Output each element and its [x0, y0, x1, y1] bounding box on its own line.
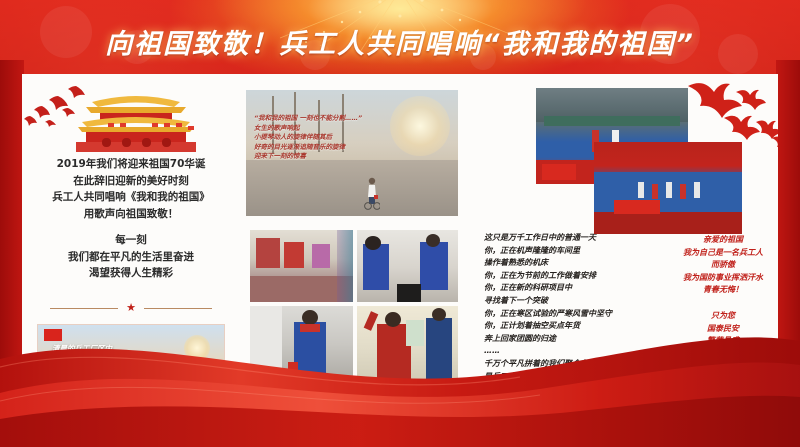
sun-flare	[390, 96, 450, 156]
grid-photo-4	[357, 306, 458, 386]
right-text-block-1: 亲爱的祖国 我为自己是一名兵工人 而骄傲 我为国防事业挥洒汗水 青春无悔！	[650, 234, 778, 297]
right-text-block-2: 只为您 国泰民安 繁荣昌盛	[650, 310, 778, 348]
left-column: 2019年我们将迎来祖国70华诞 在此辞旧迎新的美好时刻 兵工人共同唱响《我和我…	[22, 74, 240, 412]
poster-header: 向祖国致敬！兵工人共同唱响“我和我的祖国”	[0, 0, 800, 78]
china-flag-icon	[44, 329, 62, 341]
road-surface	[246, 160, 458, 216]
factory-building	[78, 381, 168, 409]
factory-morning-photo: 清晨的兵工厂区内 一场突如其来的快闪正在酝酿中 快闪队员纷纷开始行动	[37, 324, 225, 412]
red-doves-graphic-icon	[680, 76, 778, 160]
grid-photo-2	[357, 230, 458, 302]
second-paragraph: 每一刻 我们都在平凡的生活里奋进 渴望获得人生精彩	[28, 232, 234, 282]
star-icon: ★	[125, 302, 137, 314]
factory-photo-caption: 清晨的兵工厂区内 一场突如其来的快闪正在酝酿中 快闪队员纷纷开始行动	[52, 343, 212, 378]
grid-photo-3	[250, 306, 353, 386]
cyclist-photo: “我和我的祖国 一刻也不能分割……” 女生的歌声响起 小提琴动人的旋律伴随其后 …	[246, 90, 458, 216]
lead-paragraph: 2019年我们将迎来祖国70华诞 在此辞旧迎新的美好时刻 兵工人共同唱响《我和我…	[28, 156, 234, 222]
cyclist-photo-overlay-text: “我和我的祖国 一刻也不能分割……” 女生的歌声响起 小提琴动人的旋律伴随其后 …	[254, 114, 384, 162]
right-red-edge	[776, 60, 800, 390]
poster-root: 向祖国致敬！兵工人共同唱响“我和我的祖国”	[0, 0, 800, 447]
middle-column: “我和我的祖国 一刻也不能分割……” 女生的歌声响起 小提琴动人的旋律伴随其后 …	[246, 74, 476, 412]
cyclist-figure	[364, 176, 380, 210]
content-card: 2019年我们将迎来祖国70华诞 在此辞旧迎新的美好时刻 兵工人共同唱响《我和我…	[22, 74, 778, 412]
left-red-edge	[0, 60, 24, 390]
star-divider: ★	[50, 302, 212, 314]
page-title: 向祖国致敬！兵工人共同唱响“我和我的祖国”	[0, 22, 800, 61]
grid-photo-1	[250, 230, 353, 302]
center-body-text: 这只是万千工作日中的普通一天 你，正在机声隆隆的车间里 操作着熟悉的机床 你，正…	[484, 232, 649, 396]
right-column: 亲爱的祖国 我为自己是一名兵工人 而骄傲 我为国防事业挥洒汗水 青春无悔！ 只为…	[658, 74, 778, 412]
tiananmen-gate-icon	[56, 86, 216, 152]
